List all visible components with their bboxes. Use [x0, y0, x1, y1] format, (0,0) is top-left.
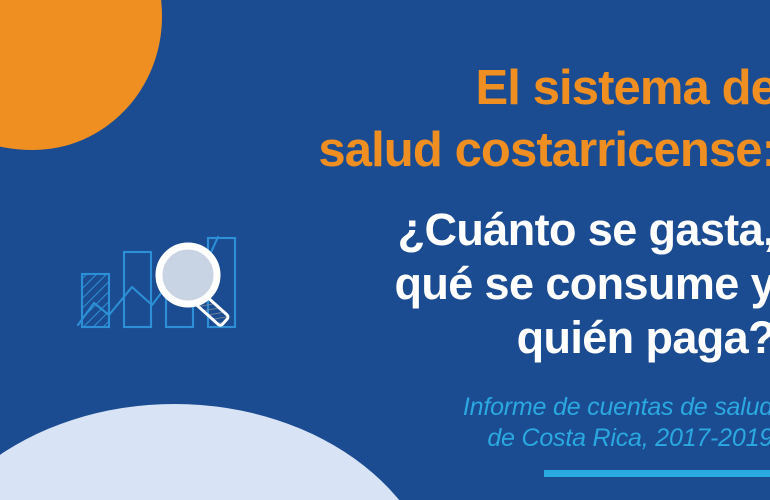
accent-rule — [544, 470, 770, 477]
page-title-question-line-1: ¿Cuánto se gasta, — [0, 203, 770, 257]
poster-canvas: El sistema de salud costarricense: ¿Cuán… — [0, 0, 770, 500]
page-subtitle-line-2: de Costa Rica, 2017-2019 — [0, 423, 770, 454]
page-subtitle: Informe de cuentas de salud de Costa Ric… — [0, 392, 770, 454]
poster-text-block: El sistema de salud costarricense: ¿Cuán… — [0, 0, 770, 500]
page-title-main: El sistema de salud costarricense: — [0, 57, 770, 181]
page-title-question: ¿Cuánto se gasta, qué se consume y quién… — [0, 203, 770, 365]
page-title-question-line-2: qué se consume y — [0, 257, 770, 311]
page-title-main-line-2: salud costarricense: — [0, 119, 770, 181]
page-title-main-line-1: El sistema de — [0, 57, 770, 119]
page-title-question-line-3: quién paga? — [0, 311, 770, 365]
page-subtitle-line-1: Informe de cuentas de salud — [0, 392, 770, 423]
